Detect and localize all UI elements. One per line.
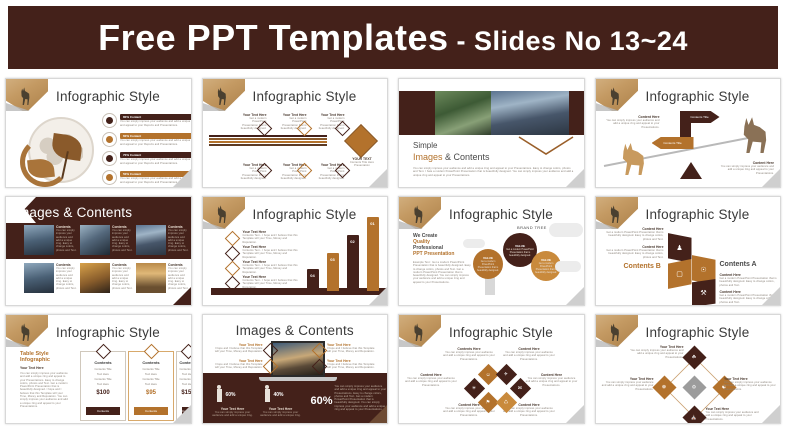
seesaw-fulcrum: [680, 162, 702, 179]
slide-02[interactable]: Infographic Style Your Text Here Get a m…: [202, 78, 389, 188]
tile-text-1: Contents You can simply impress your aud…: [56, 225, 78, 252]
photo-tile-2: [80, 225, 110, 255]
deer-map-badge-icon: [596, 315, 638, 347]
deer-map-badge-icon: [596, 197, 638, 229]
photo-tile-6: [136, 263, 166, 293]
card-diamond-3: [181, 344, 192, 360]
page-title-main: Free PPT Templates: [98, 17, 448, 58]
corner-fold: [566, 287, 584, 305]
chevron-block-2[interactable]: ▢: [668, 259, 692, 289]
cloud-icon-3: [555, 261, 581, 272]
deer-map-badge-icon: [6, 79, 48, 111]
bar-03: 03: [327, 253, 339, 291]
cluster-text-1: Contents HereYou can simply impress your…: [443, 347, 495, 361]
slide-cell-6: Infographic Style Your Text Here Content…: [197, 192, 394, 310]
ring-text-1: Your Text HereYou can simply impress you…: [626, 345, 684, 359]
cluster-text-4: Content HereYou can simply impress your …: [526, 373, 578, 387]
slide-cell-10: Images & Contents Your Text Here I hope …: [197, 310, 394, 428]
ring-text-2: Your Text HereYou can simply impress you…: [602, 377, 654, 391]
deer-map-badge-icon: [596, 79, 638, 111]
end-node-text: YOUR TEXT Contents Title Here Presentati…: [343, 157, 381, 168]
chevron-block-4[interactable]: ⚒: [692, 279, 716, 306]
slide-08-title: Infographic Style: [646, 207, 750, 222]
block-3: Your Text Here I hope and I believe that…: [327, 343, 375, 354]
stat-row-3: 70% Content You can simply impress your …: [102, 151, 192, 166]
tile-text-3: Contents You can simply impress your aud…: [168, 225, 190, 252]
slide-07[interactable]: Infographic Style We Create Quality Prof…: [398, 196, 585, 306]
big-stat-value: 60%: [311, 395, 333, 407]
slide-02-title: Infographic Style: [253, 89, 357, 104]
pricing-card-1[interactable]: Contents Contents Title Text Here Conten…: [80, 351, 126, 421]
deer-icon-right: [738, 115, 770, 153]
slide-03-heading: Simple Images & Contents: [413, 141, 490, 162]
list-diamond-1: [224, 231, 240, 247]
template-preview-page: Free PPT Templates - Slides No 13~24 Inf…: [0, 0, 786, 430]
tile-text-2: Contents You can simply impress your aud…: [112, 225, 134, 252]
card-button-1[interactable]: Contents: [86, 407, 120, 415]
slide-grid: Infographic Style 80% Content You can si…: [0, 74, 786, 430]
stat-row-1: 80% Content You can simply impress your …: [102, 113, 192, 128]
card-diamond-2: [144, 344, 160, 360]
photo-waterfall: [435, 91, 491, 135]
stat-row-2: 60% Content You can simply impress your …: [102, 132, 192, 147]
slide-11-title: Infographic Style: [449, 325, 553, 340]
page-title-sub: - Slides No 13~24: [449, 26, 688, 56]
ring-text-4: Your Text HereYou can simply impress you…: [706, 407, 764, 421]
pricing-card-2[interactable]: Contents Contents Title Text Here Conten…: [128, 351, 174, 421]
photo-tile-4: [24, 263, 54, 293]
list-diamond-3: [224, 261, 240, 277]
laptop-base: [259, 377, 337, 381]
slide-cell-9: Infographic Style Table Style Infographi…: [0, 310, 197, 428]
cluster-diamond-3[interactable]: ☀: [464, 378, 485, 399]
slide-08[interactable]: Infographic Style Content Here Get a mod…: [595, 196, 782, 306]
stat-1-text: Your Text Here You can simply impress yo…: [211, 407, 255, 418]
slide-cell-4: Infographic Style Contents Title Content…: [590, 74, 786, 192]
stat-1: 60%: [217, 389, 236, 402]
slide-cell-1: Infographic Style 80% Content You can si…: [0, 74, 197, 192]
slide-cell-11: Infographic Style Contents HereYou can s…: [393, 310, 590, 428]
slide-cell-3: Simple Images & Contents You can simply …: [393, 74, 590, 192]
deer-map-badge-icon: [399, 197, 441, 229]
right-block-1: Content Here Get a modern PowerPoint Pre…: [720, 273, 778, 287]
block-2: Your Text Here I hope and I believe that…: [215, 359, 263, 370]
stat-2-text: Your Text Here You can simply impress yo…: [259, 407, 303, 418]
deer-map-badge-icon: [203, 79, 245, 111]
headline-body: Example Text : Get a modern PowerPoint P…: [413, 261, 471, 284]
corner-fold: [762, 287, 780, 305]
tree-circle-left[interactable]: VALUEGet a modern PowerPoint Presentatio…: [473, 249, 503, 279]
deer-map-badge-icon: [6, 315, 48, 347]
slide-09[interactable]: Infographic Style Table Style Infographi…: [5, 314, 192, 424]
ring-text-3: Your Text HereYou can simply impress you…: [724, 377, 776, 391]
corner-fold: [369, 405, 387, 423]
left-block-2: Content Here Get a modern PowerPoint Pre…: [602, 245, 664, 259]
card-diamond-1: [96, 344, 112, 360]
list-diamond-2: [224, 246, 240, 262]
stat-body-3: You can simply impress your audience and…: [120, 158, 192, 165]
block-1: Your Text Here I hope and I believe that…: [215, 343, 263, 354]
list-item-2: Your Text Here Contents Text - I hope an…: [243, 245, 299, 259]
slide-04[interactable]: Infographic Style Contents Title Content…: [595, 78, 782, 188]
slide-12[interactable]: Infographic Style ☘ ☸ ☯ ⛪ ⚙ Your Text He…: [595, 314, 782, 424]
slide-10-title: Images & Contents: [203, 323, 388, 338]
tree-label: BRAND TREE: [517, 225, 547, 230]
corner-fold: [173, 405, 191, 423]
corner-fold: [566, 405, 584, 423]
list-item-3: Your Text Here Contents Text - I hope an…: [243, 260, 299, 274]
photo-tile-3: [136, 225, 166, 255]
slide-cell-12: Infographic Style ☘ ☸ ☯ ⛪ ⚙ Your Text He…: [590, 310, 786, 428]
pie-icon-1: [102, 113, 117, 128]
slide-03-body: You can simply impress your audience and…: [413, 167, 575, 177]
slide-05-title: Images & Contents: [14, 205, 132, 220]
photo-tile-5: [80, 263, 110, 293]
contents-a-label: Contents A: [720, 261, 757, 268]
content-left: Content Here You can simply impress your…: [606, 115, 660, 129]
card-button-2[interactable]: Contents: [134, 407, 168, 415]
pie-icon-2: [102, 132, 117, 147]
contents-b-label: Contents B: [624, 263, 661, 270]
slide-01[interactable]: Infographic Style 80% Content You can si…: [5, 78, 192, 188]
chart-baseline: [211, 288, 387, 295]
arrow-left-orange: Contents Title: [652, 137, 694, 149]
heading-line-1: Simple: [413, 141, 490, 150]
list-item-4: Your Text Here Contents Text - I hope an…: [243, 275, 299, 289]
photo-seashore: [491, 91, 569, 135]
corner-fold: [566, 169, 584, 187]
slide-cell-2: Infographic Style Your Text Here Get a m…: [197, 74, 394, 192]
heading-line-2: Images & Contents: [413, 152, 490, 162]
cluster-text-3: Content HereYou can simply impress your …: [405, 373, 457, 387]
arrow-right-dark: Contents Title: [680, 111, 720, 123]
headline-block: We Create Quality Professional PPT Prese…: [413, 233, 471, 284]
bar-04: 04: [307, 269, 319, 291]
stat-2: 40%: [265, 389, 284, 402]
chevron-down-accent-icon: [517, 135, 575, 157]
slide-03[interactable]: Simple Images & Contents You can simply …: [398, 78, 585, 188]
slide-cell-5: Images & Contents Contents You can simpl…: [0, 192, 197, 310]
corner-fold: [762, 405, 780, 423]
chevron-block-1[interactable]: ♟: [668, 233, 692, 263]
side-panel: Table Style Infographic Your Text Here Y…: [20, 351, 70, 408]
slide-11[interactable]: Infographic Style Contents HereYou can s…: [398, 314, 585, 424]
corner-fold: [369, 287, 387, 305]
slide-cell-7: Infographic Style We Create Quality Prof…: [393, 192, 590, 310]
deer-map-badge-icon: [399, 315, 441, 347]
person-icon-1: [217, 389, 222, 402]
bar-02: 02: [347, 235, 359, 291]
cluster-text-2: Content HereYou can simply impress your …: [503, 347, 555, 361]
pie-icon-4: [102, 170, 117, 185]
slide-06-title: Infographic Style: [253, 207, 357, 222]
slide-10[interactable]: Images & Contents Your Text Here I hope …: [202, 314, 389, 424]
flow-lines: [209, 135, 327, 146]
slide-04-title: Infographic Style: [646, 89, 750, 104]
corner-fold: [369, 169, 387, 187]
list-item-1: Your Text Here Contents Text - I hope an…: [243, 230, 299, 244]
pie-icon-3: [102, 151, 117, 166]
corner-fold: [173, 169, 191, 187]
slide-cell-8: Infographic Style Content Here Get a mod…: [590, 192, 786, 310]
slide-07-title: Infographic Style: [449, 207, 553, 222]
corner-fold: [762, 169, 780, 187]
cloud-icon-2: [463, 239, 485, 248]
tile-text-5: Contents You can simply impress your aud…: [112, 263, 134, 290]
cluster-diamond-2[interactable]: ✈: [496, 364, 517, 385]
deer-icon-left: [618, 141, 648, 175]
tile-text-4: Contents You can simply impress your aud…: [56, 263, 78, 290]
page-title: Free PPT Templates - Slides No 13~24: [98, 17, 688, 59]
slide-01-title: Infographic Style: [56, 89, 160, 104]
page-banner: Free PPT Templates - Slides No 13~24: [8, 6, 778, 69]
cloud-icon-1: [549, 223, 583, 237]
stat-body-2: You can simply impress your audience and…: [120, 139, 192, 146]
bar-01: 01: [367, 217, 379, 291]
deer-map-badge-icon: [203, 197, 245, 229]
stat-body-1: You can simply impress your audience and…: [120, 120, 192, 127]
photo-tile-1: [24, 225, 54, 255]
corner-fold: [173, 287, 191, 305]
slide-09-title: Infographic Style: [56, 325, 160, 340]
person-icon-2: [265, 389, 270, 402]
slide-06[interactable]: Infographic Style Your Text Here Content…: [202, 196, 389, 306]
slide-05[interactable]: Images & Contents Contents You can simpl…: [5, 196, 192, 306]
left-block-1: Content Here Get a modern PowerPoint Pre…: [602, 227, 664, 241]
slide-12-title: Infographic Style: [646, 325, 750, 340]
block-4: Your Text Here I hope and I believe that…: [327, 359, 375, 370]
